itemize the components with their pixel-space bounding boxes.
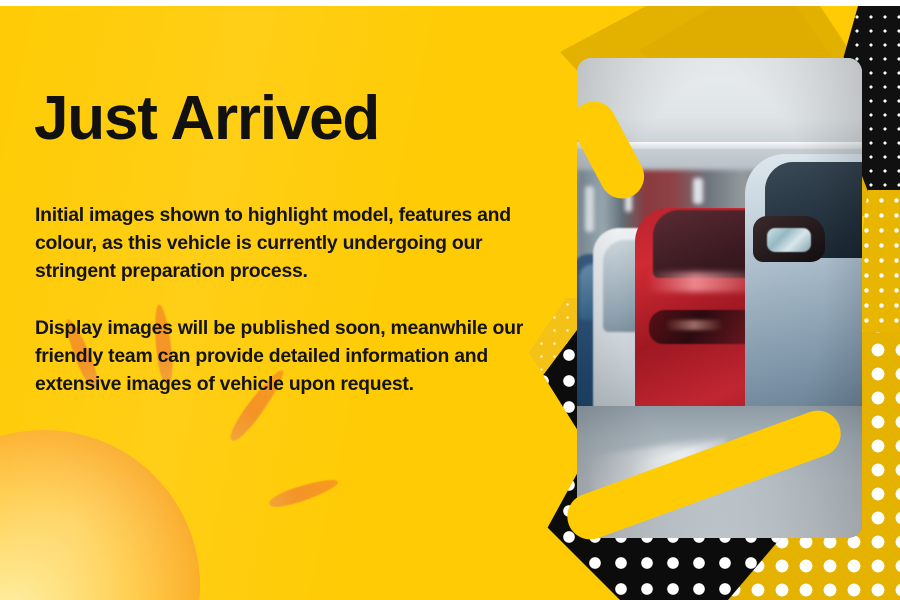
body-paragraph-primary: Initial images shown to highlight model,… <box>35 201 555 285</box>
body-paragraph-secondary: Display images will be published soon, m… <box>35 314 555 398</box>
just-arrived-banner: Just Arrived Initial images shown to hig… <box>0 0 900 600</box>
top-white-rule <box>0 0 900 6</box>
page-title: Just Arrived <box>34 88 379 150</box>
